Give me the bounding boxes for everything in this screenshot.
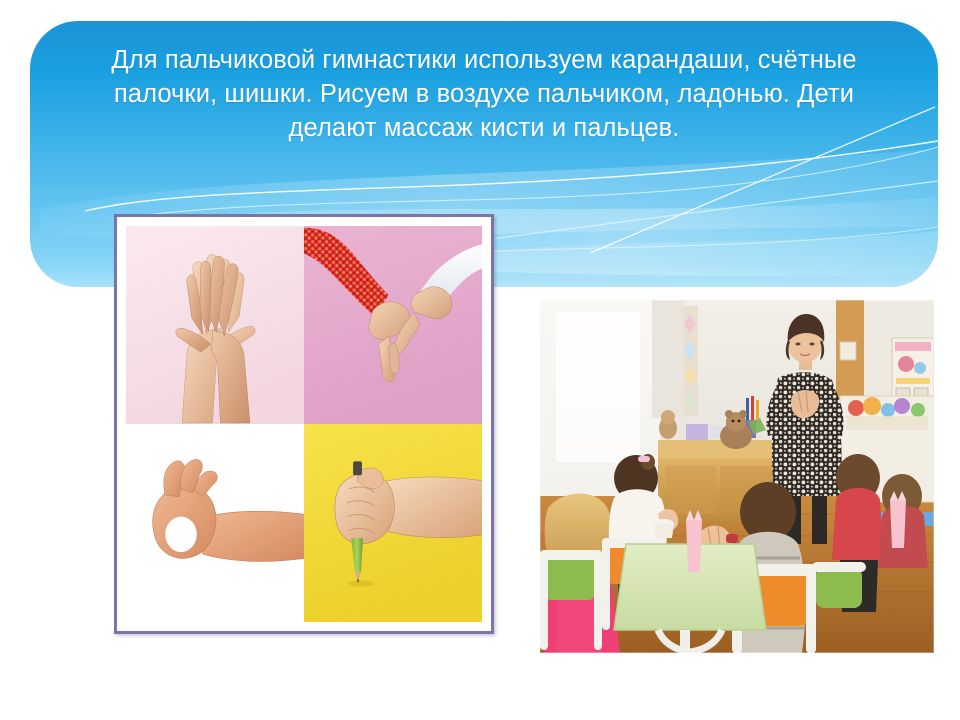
hand-exercises-collage: [114, 214, 494, 634]
collage-panel-linked-fingers: [304, 226, 482, 424]
collage-panel-pencil-grip: [304, 424, 482, 622]
collage-panel-two-hands: [126, 226, 304, 424]
collage-panel-ok-gesture: [126, 424, 304, 622]
banner-title-text: Для пальчиковой гимнастики используем ка…: [70, 43, 898, 145]
slide-root: Для пальчиковой гимнастики используем ка…: [0, 0, 960, 720]
classroom-photo: [540, 300, 934, 653]
collage-grid: [126, 226, 482, 622]
